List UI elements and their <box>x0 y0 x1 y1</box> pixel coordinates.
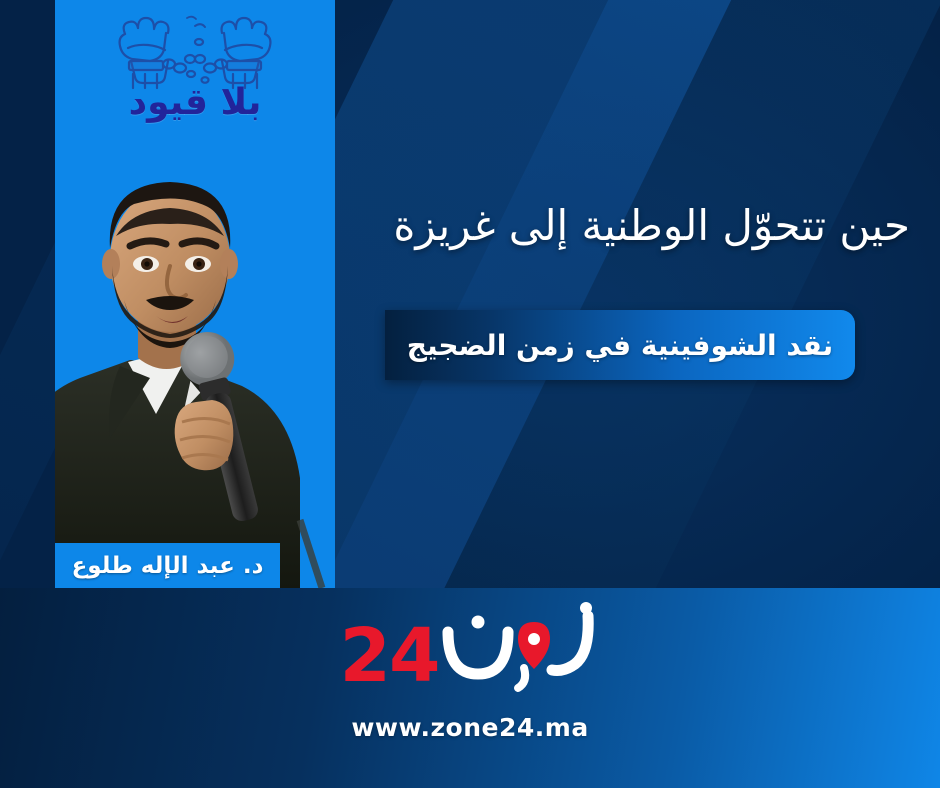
left-blue-panel: بلا قيود <box>55 0 335 588</box>
subtitle-label: نقد الشوفينية في زمن الضجيج <box>407 329 833 362</box>
site-brand-logo[interactable]: 24 <box>0 608 940 703</box>
raised-fists-breaking-chains-icon <box>95 12 295 90</box>
speaker-photo <box>55 140 335 588</box>
brand-wordmark: بلا قيود <box>55 82 335 123</box>
brand-arabic-wordmark <box>438 602 598 710</box>
subtitle-banner: نقد الشوفينية في زمن الضجيج <box>385 310 855 380</box>
website-url[interactable]: www.zone24.ma <box>0 713 940 742</box>
page-title: حين تتحوّل الوطنية إلى غريزة <box>310 200 910 253</box>
speaker-name-label: د. عبد الإله طلوع <box>72 553 264 579</box>
brand-logo-block: بلا قيود <box>55 8 335 128</box>
speaker-portrait-illustration <box>55 140 335 588</box>
brand-number: 24 <box>340 619 439 693</box>
poster-root: بلا قيود <box>0 0 940 788</box>
footer-bar: 24 www.zone24.ma <box>0 588 940 788</box>
speaker-name-tag: د. عبد الإله طلوع <box>55 543 280 588</box>
brand-zone-arabic-with-pin <box>438 602 598 698</box>
